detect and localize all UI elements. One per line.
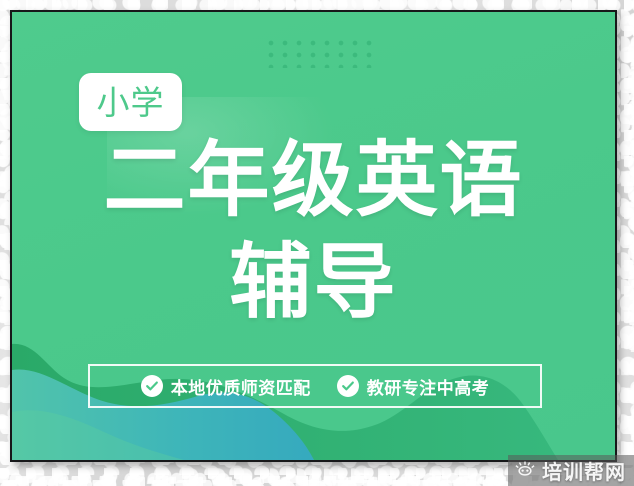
site-watermark: 培训帮网 xyxy=(508,455,634,486)
course-poster-card: 小学 二年级英语 辅导 xyxy=(10,10,617,462)
feature-label: 教研专注中高考 xyxy=(367,374,490,399)
feature-label: 本地优质师资匹配 xyxy=(171,374,311,399)
check-circle-icon xyxy=(141,375,163,397)
poster-headline-line-1: 二年级英语 xyxy=(12,140,615,222)
level-tag: 小学 xyxy=(79,73,182,131)
poster-headline-line-2: 辅导 xyxy=(12,242,615,324)
sun-face-icon xyxy=(514,460,536,482)
check-circle-icon xyxy=(337,375,359,397)
level-tag-label: 小学 xyxy=(97,86,165,119)
feature-item: 本地优质师资匹配 xyxy=(141,374,311,399)
feature-list: 本地优质师资匹配 教研专注中高考 xyxy=(88,364,542,408)
dot-grid-decoration xyxy=(262,34,372,68)
feature-item: 教研专注中高考 xyxy=(337,374,490,399)
watermark-text: 培训帮网 xyxy=(542,456,626,485)
